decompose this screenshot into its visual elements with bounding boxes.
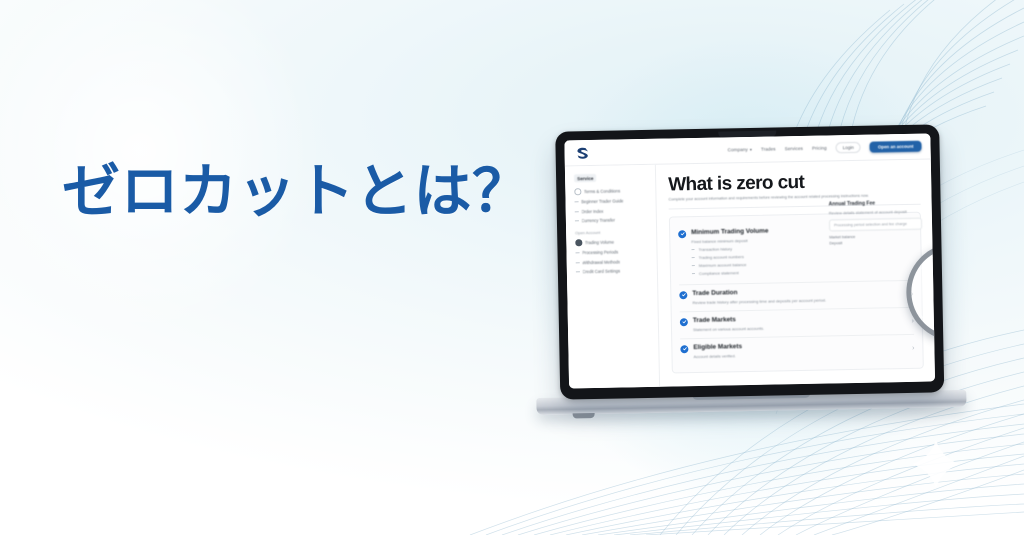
laptop-mockup: Company Trades Services Pricing Login Op… [531, 124, 967, 427]
check-circle-icon [680, 318, 688, 326]
page-body: Service Terms & Conditions Beginner Trad… [565, 159, 935, 388]
sidebar-item-label: Withdrawal Methods [582, 259, 620, 265]
sidebar-item-label: Trading Volume [585, 239, 614, 245]
detail-panel-heading: Annual Trading Fee [829, 200, 922, 208]
sidebar-item-order-index[interactable]: Order Index [575, 207, 649, 213]
sidebar-item-credit-card-settings[interactable]: Credit Card Settings [576, 268, 650, 274]
laptop-lid: Company Trades Services Pricing Login Op… [555, 124, 944, 399]
chevron-right-icon[interactable]: › [907, 318, 913, 325]
sidebar-item-label: Credit Card Settings [582, 268, 620, 274]
content-heading: What is zero cut [668, 171, 920, 195]
bullet-dash-icon [575, 201, 579, 202]
brand-logo-icon[interactable] [573, 145, 590, 160]
section-eligible-markets[interactable]: Eligible Markets Account details verifie… [680, 334, 914, 365]
sidebar-item-processing-periods[interactable]: Processing Periods [575, 249, 649, 255]
detail-panel-description: Review details statement of account depo… [829, 209, 922, 216]
page-sidebar: Service Terms & Conditions Beginner Trad… [565, 165, 660, 389]
login-button[interactable]: Login [836, 142, 861, 154]
page-title: ゼロカットとは？ [62, 160, 532, 225]
bullet-dash-icon [692, 273, 695, 274]
bullet-dash-icon [692, 257, 695, 258]
section-bullet-list: Transaction history Trading account numb… [691, 242, 913, 276]
chevron-right-icon[interactable]: › [908, 345, 914, 352]
sidebar-item-trading-volume[interactable]: Trading Volume [575, 238, 649, 246]
sidebar-title: Service [574, 174, 597, 182]
section-body: Trade Duration Review trade history afte… [692, 286, 902, 306]
bullet-dash-icon [576, 262, 580, 263]
list-item-label: Trading account numbers [699, 254, 744, 260]
nav-item-company[interactable]: Company [728, 147, 753, 152]
laptop-foot [573, 413, 595, 418]
bullet-dash-icon [576, 252, 580, 253]
nav-item-pricing[interactable]: Pricing [812, 145, 827, 150]
section-description: Account details verified. [693, 350, 903, 359]
laptop-screen: Company Trades Services Pricing Login Op… [564, 133, 935, 388]
topnav-items: Company Trades Services Pricing Login Op… [727, 140, 921, 155]
nav-item-services[interactable]: Services [785, 146, 803, 151]
sidebar-item-label: Terms & Conditions [584, 188, 620, 194]
bullet-dash-icon [691, 249, 694, 250]
bullet-dot-icon [574, 188, 581, 195]
sidebar-group-caption: Open Account [575, 229, 649, 235]
bullet-dash-icon [575, 220, 579, 221]
check-circle-icon [680, 345, 688, 353]
check-circle-icon [679, 291, 687, 299]
sidebar-item-terms[interactable]: Terms & Conditions [574, 187, 648, 195]
magnifier-inner-ring [913, 249, 936, 335]
sidebar-item-currency-transfer[interactable]: Currency Transfer [575, 217, 649, 223]
nav-item-trades[interactable]: Trades [761, 146, 776, 151]
bullet-dash-icon [575, 211, 579, 212]
list-item-label: Compliance statement [699, 270, 739, 276]
website-page: Company Trades Services Pricing Login Op… [564, 133, 935, 388]
sidebar-item-withdrawal-methods[interactable]: Withdrawal Methods [576, 258, 650, 264]
bullet-dash-icon [692, 265, 695, 266]
sidebar-item-beginner-guide[interactable]: Beginner Trader Guide [575, 198, 649, 204]
hero-banner: ゼロカットとは？ Company Trades [0, 0, 1024, 535]
sidebar-item-label: Currency Transfer [581, 218, 615, 224]
open-account-button[interactable]: Open an account [870, 141, 922, 153]
list-item: Compliance statement [692, 267, 913, 276]
page-content: What is zero cut Complete your account i… [656, 159, 935, 386]
check-circle-icon [678, 230, 686, 238]
detail-panel: Annual Trading Fee Review details statem… [829, 200, 923, 247]
sidebar-group-2: Trading Volume Processing Periods Withdr… [575, 238, 650, 274]
sidebar-item-label: Beginner Trader Guide [581, 198, 623, 204]
bullet-dash-icon [576, 271, 580, 272]
section-body: Trade Markets Statement on various accou… [693, 313, 903, 333]
section-description: Review trade history after processing ti… [692, 296, 902, 305]
sidebar-item-label: Processing Periods [582, 250, 618, 256]
list-item-label: Maximum account balance [699, 262, 747, 268]
detail-panel-input[interactable]: Processing period selection and fee char… [829, 218, 922, 232]
section-description: Statement on various account accounts. [693, 323, 903, 332]
bullet-dot-active-icon [575, 239, 582, 246]
sidebar-group-1: Terms & Conditions Beginner Trader Guide… [574, 187, 649, 223]
section-body: Eligible Markets Account details verifie… [693, 340, 903, 360]
list-item-label: Transaction history [698, 246, 732, 252]
sidebar-item-label: Order Index [581, 208, 603, 213]
detail-panel-meta: Market balance Deposit [829, 234, 922, 247]
